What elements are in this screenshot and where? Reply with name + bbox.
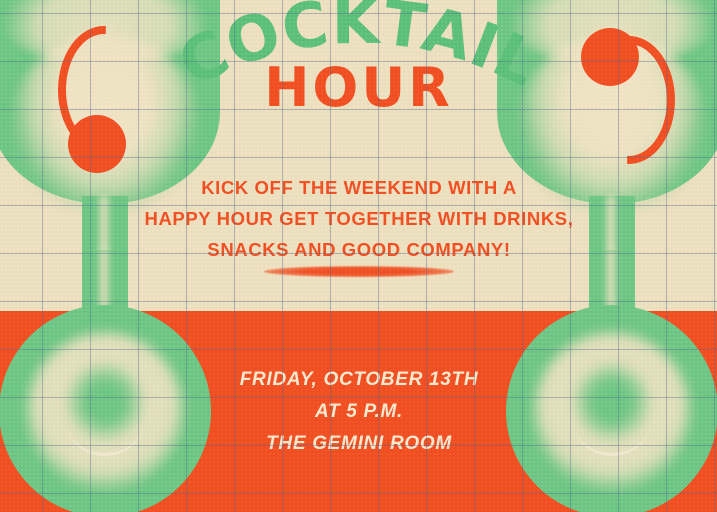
title-hour: HOUR: [0, 56, 717, 119]
body-line-1: KICK OFF THE WEEKEND WITH A: [128, 172, 590, 203]
body-line-2: HAPPY HOUR GET TOGETHER WITH DRINKS,: [128, 203, 590, 234]
event-date: FRIDAY, OCTOBER 13TH: [128, 364, 590, 396]
body-line-3: SNACKS AND GOOD COMPANY!: [128, 234, 590, 265]
event-venue: THE GEMINI ROOM: [128, 428, 590, 460]
event-time: AT 5 P.M.: [128, 396, 590, 428]
cocktail-hour-invitation-card: COCKTAIL HOUR KICK OFF THE WEEKEND WITH …: [0, 0, 717, 512]
body-copy: KICK OFF THE WEEKEND WITH A HAPPY HOUR G…: [128, 172, 590, 265]
brush-stroke-underline: [264, 266, 454, 277]
cherry-left: [68, 115, 126, 173]
event-details: FRIDAY, OCTOBER 13TH AT 5 P.M. THE GEMIN…: [128, 364, 590, 460]
